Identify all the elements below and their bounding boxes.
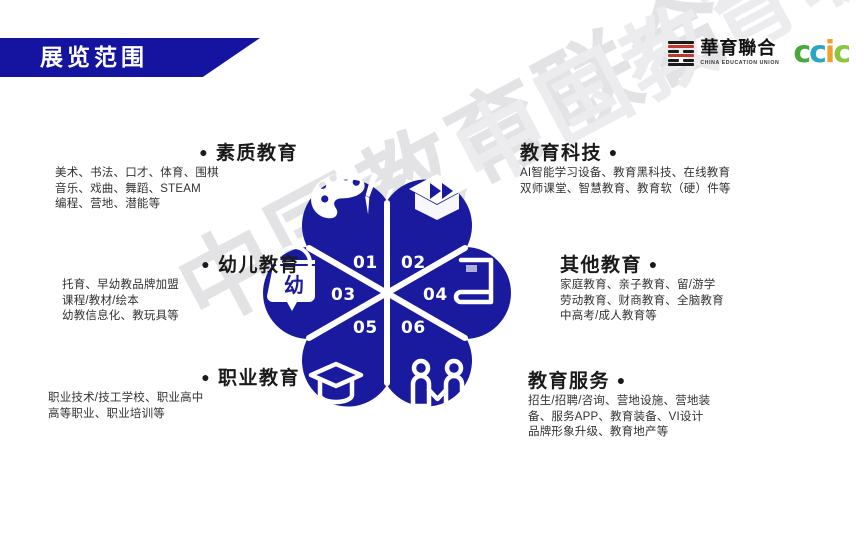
petal-number-05: 05: [353, 318, 378, 338]
section-line: 课程/教材/绘本: [62, 294, 300, 310]
section-line: AI智能学习设备、教育黑科技、在线教育: [520, 166, 810, 182]
petal-number-03: 03: [331, 285, 356, 305]
bullet-dot-icon: ●: [199, 144, 209, 160]
section-line: 招生/招聘/咨询、营地设施、营地装: [528, 394, 818, 410]
petal-number-02: 02: [401, 253, 426, 273]
section-body: AI智能学习设备、教育黑科技、在线教育 双师课堂、智慧教育、教育软（硬）件等: [520, 166, 810, 197]
section-line: 备、服务APP、教育装备、VI设计: [528, 410, 818, 426]
section-line: 幼教信息化、教玩具等: [62, 309, 300, 325]
section-title: 教育科技: [520, 143, 602, 164]
section-body: 家庭教育、亲子教育、留/游学 劳动教育、财商教育、全脑教育 中高考/成人教育等: [560, 278, 820, 325]
section-title-row: ● 素质教育: [55, 140, 300, 166]
section-line: 职业技术/技工学校、职业高中: [48, 391, 300, 407]
china-education-union-logo: 華育聯合 CHINA EDUCATION UNION: [668, 40, 779, 66]
section-title-row: 教育服务 ●: [528, 368, 818, 394]
section-line: 编程、营地、潜能等: [55, 197, 300, 213]
section-title: 教育服务: [528, 371, 610, 392]
section-title: 幼儿教育: [218, 255, 300, 276]
section-title-row: ● 职业教育: [48, 365, 300, 391]
bullet-dot-icon: ●: [649, 256, 659, 272]
section-title: 其他教育: [560, 255, 642, 276]
section-jiaoyu-keji: 教育科技 ● AI智能学习设备、教育黑科技、在线教育 双师课堂、智慧教育、教育软…: [520, 140, 810, 197]
petal-number-01: 01: [353, 253, 378, 273]
section-line: 中高考/成人教育等: [560, 309, 820, 325]
section-body: 招生/招聘/咨询、营地设施、营地装 备、服务APP、教育装备、VI设计 品牌形象…: [528, 394, 818, 441]
section-line: 劳动教育、财商教育、全脑教育: [560, 294, 820, 310]
section-line: 双师课堂、智慧教育、教育软（硬）件等: [520, 182, 810, 198]
section-line: 美术、书法、口才、体育、围棋: [55, 166, 300, 182]
section-jiaoyu-fuwu: 教育服务 ● 招生/招聘/咨询、营地设施、营地装 备、服务APP、教育装备、VI…: [528, 368, 818, 441]
section-line: 品牌形象升级、教育地产等: [528, 425, 818, 441]
section-body: 职业技术/技工学校、职业高中 高等职业、职业培训等: [48, 391, 300, 422]
bullet-dot-icon: ●: [609, 144, 619, 160]
bullet-dot-icon: ●: [201, 256, 211, 272]
petal-number-04: 04: [423, 285, 448, 305]
section-body: 托育、早幼教品牌加盟 课程/教材/绘本 幼教信息化、教玩具等: [62, 278, 300, 325]
brand-name-cn: 華育聯合: [700, 40, 779, 58]
petal-number-06: 06: [401, 318, 426, 338]
section-line: 托育、早幼教品牌加盟: [62, 278, 300, 294]
section-qita-jiaoyu: 其他教育 ● 家庭教育、亲子教育、留/游学 劳动教育、财商教育、全脑教育 中高考…: [560, 252, 820, 325]
section-youer-jiaoyu: ● 幼儿教育 托育、早幼教品牌加盟 课程/教材/绘本 幼教信息化、教玩具等: [62, 252, 300, 325]
section-line: 音乐、戏曲、舞蹈、STEAM: [55, 182, 300, 198]
bullet-dot-icon: ●: [617, 372, 627, 388]
section-title-row: 教育科技 ●: [520, 140, 810, 166]
section-zhiye-jiaoyu: ● 职业教育 职业技术/技工学校、职业高中 高等职业、职业培训等: [48, 365, 300, 422]
section-line: 家庭教育、亲子教育、留/游学: [560, 278, 820, 294]
brand-name-en: CHINA EDUCATION UNION: [700, 61, 779, 66]
page-title: 展览范围: [40, 41, 148, 74]
section-body: 美术、书法、口才、体育、围棋 音乐、戏曲、舞蹈、STEAM 编程、营地、潜能等: [55, 166, 300, 213]
section-line: 高等职业、职业培训等: [48, 407, 300, 423]
logo-group: 華育聯合 CHINA EDUCATION UNION ccic: [668, 38, 849, 68]
section-title: 职业教育: [218, 368, 300, 389]
slide-canvas: 中国教育联合 中国教育联合 展览范围 華育聯合 CHINA EDUCATION …: [0, 0, 867, 533]
section-title: 素质教育: [216, 143, 298, 164]
section-title-row: 其他教育 ●: [560, 252, 820, 278]
ccic-logo: ccic: [793, 38, 849, 68]
section-title-row: ● 幼儿教育: [62, 252, 300, 278]
hexagram-mark-icon: [668, 40, 694, 66]
bullet-dot-icon: ●: [201, 369, 211, 385]
section-suzhi-jiaoyu: ● 素质教育 美术、书法、口才、体育、围棋 音乐、戏曲、舞蹈、STEAM 编程、…: [55, 140, 300, 213]
